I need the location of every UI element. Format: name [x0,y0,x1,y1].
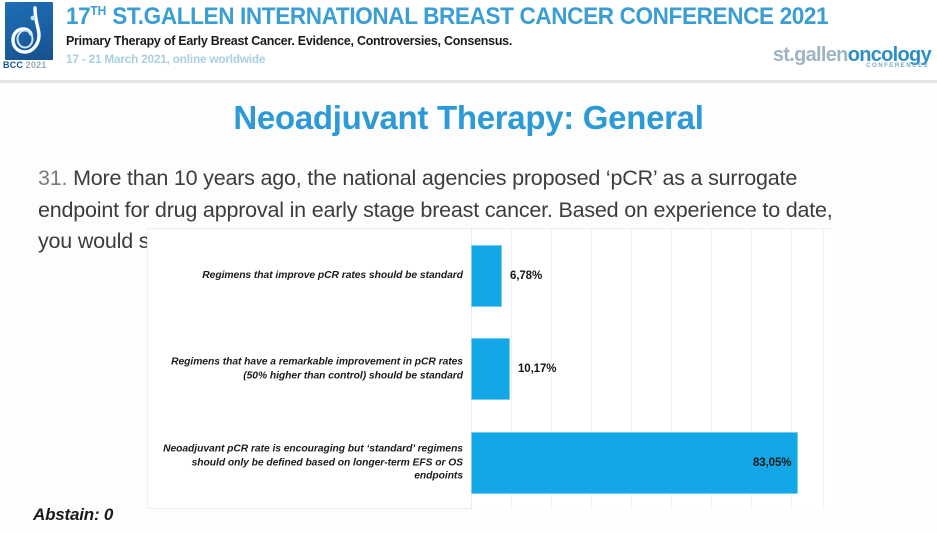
poll-bar-value: 6,78% [510,270,542,282]
poll-bar [471,432,798,494]
conference-title: 17TH ST.GALLEN INTERNATIONAL BREAST CANC… [66,4,655,29]
poll-results-chart: Regimens that improve pCR rates should b… [147,228,831,509]
poll-row[interactable]: Regimens that have a remarkable improvem… [148,323,832,417]
header-divider [0,80,937,83]
conference-title-ordinal: TH [90,3,106,18]
poll-question-number: 31. [38,166,67,190]
sponsor-logo-conferences: CONFERENCES [866,62,929,69]
page-title: Neoadjuvant Therapy: General [0,99,937,137]
bcc-logo-caption: BCC 2021 [3,60,61,70]
conference-header: BCC 2021 17TH ST.GALLEN INTERNATIONAL BR… [0,0,937,80]
poll-row-label: Regimens that have a remarkable improvem… [154,356,463,383]
sponsor-logo-gallen: gallen [794,44,848,66]
bcc-logo-block: BCC 2021 [2,2,60,78]
conference-title-main: ST.GALLEN INTERNATIONAL BREAST CANCER CO… [112,3,828,30]
conference-subtitle: Primary Therapy of Early Breast Cancer. … [66,33,674,48]
abstain-count: Abstain: 0 [33,505,113,525]
conference-dates: 17 - 21 March 2021, online worldwide [66,52,674,66]
bcc-logo-caption-year: 2021 [26,60,47,70]
poll-bar [471,245,502,307]
bcc-droplet-logo-icon [5,2,53,60]
poll-row-label: Regimens that improve pCR rates should b… [154,269,463,283]
conference-title-number: 17 [66,3,90,30]
poll-row-label: Neoadjuvant pCR rate is encouraging but … [154,443,463,484]
sponsor-logo-st: st [773,44,789,66]
bcc-logo-caption-bcc: BCC [3,60,23,70]
poll-bar-value: 83,05% [753,457,791,469]
poll-row[interactable]: Neoadjuvant pCR rate is encouraging but … [148,416,832,510]
poll-row[interactable]: Regimens that improve pCR rates should b… [148,229,832,323]
sponsor-logo-st-gallen-oncology: st.gallenoncology CONFERENCES [773,44,931,67]
poll-bar-value: 10,17% [518,363,556,375]
poll-bar [471,338,510,400]
conference-header-text: 17TH ST.GALLEN INTERNATIONAL BREAST CANC… [66,4,706,66]
